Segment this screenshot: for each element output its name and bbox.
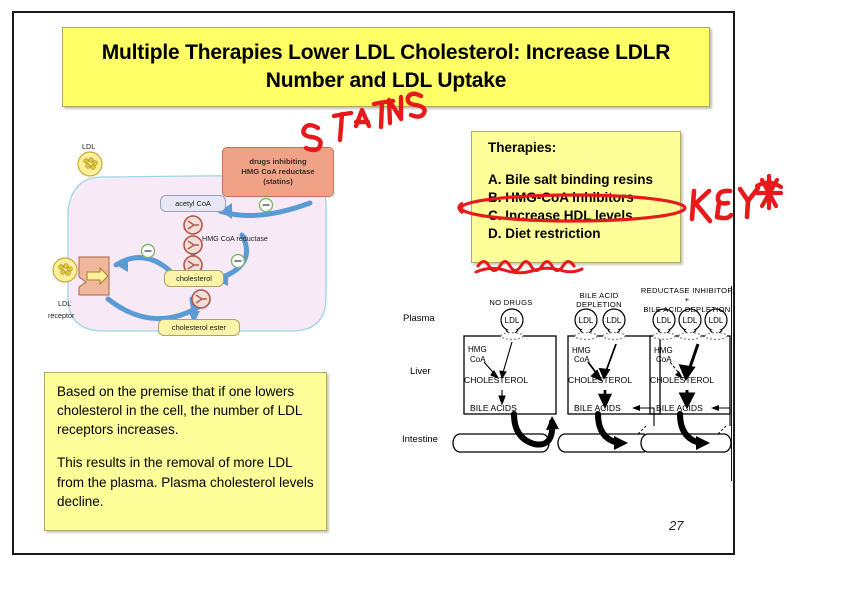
row-label-plasma: Plasma <box>403 313 435 324</box>
svg-text:LDL: LDL <box>607 316 622 325</box>
svg-text:LDL: LDL <box>505 316 520 325</box>
node-hmg-coa-panel2-line1: HMG <box>572 346 591 355</box>
premise-box: Based on the premise that if one lowers … <box>44 372 327 531</box>
premise-paragraph-2: This results in the removal of more LDL … <box>57 453 314 510</box>
slide-canvas: Multiple Therapies Lower LDL Cholesterol… <box>12 11 735 555</box>
therapy-item-c: C. Increase HDL levels <box>488 207 680 225</box>
row-label-liver: Liver <box>410 366 431 377</box>
node-hmg-coa-panel3-line2: CoA <box>656 355 672 364</box>
page-title: Multiple Therapies Lower LDL Cholesterol… <box>63 39 709 94</box>
therapy-item-a: A. Bile salt binding resins <box>488 171 680 189</box>
drug-box-line-1: drugs inhibiting <box>249 157 306 167</box>
panel-title-reductase-inhibitor: REDUCTASE INHIBITOR + BILE ACID DEPLETIO… <box>639 286 735 314</box>
bile-acid-panels-figure: LDL LDL LDL LDL LDL LDL <box>402 286 732 481</box>
cholesterol-pathway-diagram: LDL LDL receptor acetyl CoA cholesterol … <box>42 139 342 359</box>
node-hmg-coa-panel1-line1: HMG <box>468 346 487 355</box>
node-cholesterol-panel3: CHOLESTEROL <box>650 375 714 385</box>
svg-text:LDL: LDL <box>657 316 672 325</box>
panel-title-bile-acid-depletion: BILE ACID DEPLETION <box>562 291 636 310</box>
slide-title-box: Multiple Therapies Lower LDL Cholesterol… <box>62 27 710 107</box>
therapies-heading: Therapies: <box>488 140 680 155</box>
svg-text:LDL: LDL <box>683 316 698 325</box>
node-bile-acids-panel3: BILE ACIDS <box>656 403 703 413</box>
acetyl-coa-node: acetyl CoA <box>160 195 226 212</box>
node-hmg-coa-panel1-line2: CoA <box>470 355 486 364</box>
panel-title-no-drugs: NO DRUGS <box>476 298 546 307</box>
cholesterol-ester-node: cholesterol ester <box>158 319 240 336</box>
cholesterol-node: cholesterol <box>164 270 224 287</box>
premise-spacer <box>57 439 314 453</box>
node-cholesterol-panel1: CHOLESTEROL <box>464 375 528 385</box>
statin-drug-box: drugs inhibiting HMG CoA reductase (stat… <box>222 147 334 197</box>
ldl-receptor-label-line1: LDL <box>58 299 71 308</box>
drug-box-line-2: HMG CoA reductase <box>241 167 314 177</box>
node-hmg-coa-panel2-line2: CoA <box>574 355 590 364</box>
hmg-coa-reductase-label: HMG CoA reductase <box>202 234 268 243</box>
ldl-receptor-label-line2: receptor <box>48 311 74 320</box>
svg-text:LDL: LDL <box>709 316 724 325</box>
drug-box-line-3: (statins) <box>263 177 293 187</box>
svg-text:LDL: LDL <box>579 316 594 325</box>
node-cholesterol-panel2: CHOLESTEROL <box>568 375 632 385</box>
node-bile-acids-panel1: BILE ACIDS <box>470 403 517 413</box>
node-hmg-coa-panel3-line1: HMG <box>654 346 673 355</box>
therapy-item-b: B. HMG-CoA inhibitors <box>488 189 680 207</box>
premise-paragraph-1: Based on the premise that if one lowers … <box>57 382 314 439</box>
therapy-item-d: D. Diet restriction <box>488 225 680 243</box>
page-number: 27 <box>669 518 683 533</box>
star-annotation-ink <box>757 176 781 208</box>
row-label-intestine: Intestine <box>402 434 438 445</box>
node-bile-acids-panel2: BILE ACIDS <box>574 403 621 413</box>
ldl-label: LDL <box>82 142 95 151</box>
therapies-box: Therapies: A. Bile salt binding resins B… <box>471 131 681 263</box>
